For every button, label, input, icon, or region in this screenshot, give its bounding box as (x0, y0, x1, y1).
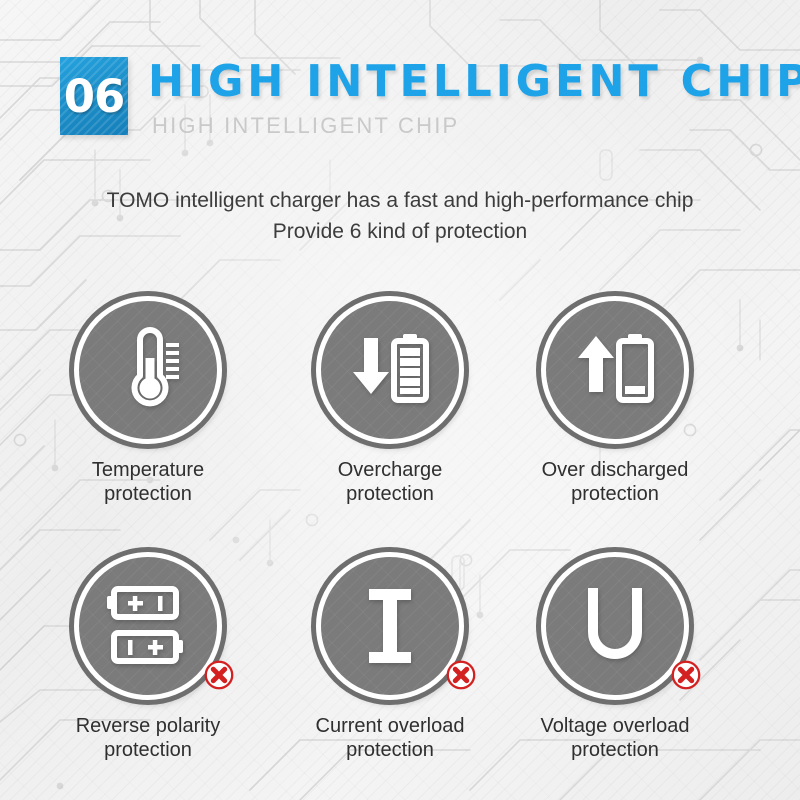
voltage-symbol-icon (574, 580, 656, 672)
infographic-page: 06 HIGH INTELLIGENT CHIP HIGH INTELLIGEN… (0, 0, 800, 800)
icon-circle (316, 296, 464, 444)
icon-circle-wrap (541, 296, 689, 444)
feature-label-line-1: Temperature (92, 459, 204, 481)
current-symbol-icon (350, 580, 430, 672)
icon-circle (316, 552, 464, 700)
feature-caption: Overcharge protection (268, 458, 512, 506)
protection-feature-grid: Temperature protection (0, 296, 800, 800)
thermometer-icon (102, 324, 194, 416)
icon-circle-wrap (541, 552, 689, 700)
icon-circle (74, 552, 222, 700)
feature-caption: Temperature protection (26, 458, 270, 506)
feature-label-line-1: Reverse polarity (76, 715, 221, 737)
icon-circle-wrap (74, 552, 222, 700)
warning-x-badge-icon (204, 660, 234, 690)
feature-voltage-overload-protection[interactable]: Voltage overload protection (493, 552, 737, 762)
intro-line-2: Provide 6 kind of protection (0, 216, 800, 247)
step-number-label: 06 (64, 74, 125, 119)
feature-row-top: Temperature protection (0, 296, 800, 552)
battery-up-arrow-icon (567, 324, 663, 416)
icon-circle-wrap (74, 296, 222, 444)
feature-caption: Voltage overload protection (493, 714, 737, 762)
step-number-badge: 06 (60, 57, 128, 135)
reversed-batteries-icon (98, 580, 198, 672)
feature-current-overload-protection[interactable]: Current overload protection (268, 552, 512, 762)
feature-over-discharged-protection[interactable]: Over discharged protection (493, 296, 737, 506)
feature-temperature-protection[interactable]: Temperature protection (26, 296, 270, 506)
icon-circle (74, 296, 222, 444)
feature-label-line-2: protection (493, 738, 737, 762)
feature-label-line-1: Voltage overload (540, 715, 689, 737)
feature-overcharge-protection[interactable]: Overcharge protection (268, 296, 512, 506)
feature-row-bottom: Reverse polarity protection (0, 552, 800, 800)
feature-caption: Over discharged protection (493, 458, 737, 506)
page-subtitle: HIGH INTELLIGENT CHIP (152, 113, 459, 139)
feature-label-line-2: protection (26, 738, 270, 762)
icon-circle-wrap (316, 296, 464, 444)
intro-line-1: TOMO intelligent charger has a fast and … (0, 185, 800, 216)
feature-caption: Reverse polarity protection (26, 714, 270, 762)
feature-reverse-polarity-protection[interactable]: Reverse polarity protection (26, 552, 270, 762)
icon-circle (541, 296, 689, 444)
feature-label-line-1: Over discharged (542, 459, 689, 481)
warning-x-badge-icon (671, 660, 701, 690)
header: 06 HIGH INTELLIGENT CHIP HIGH INTELLIGEN… (0, 0, 800, 160)
feature-label-line-2: protection (493, 482, 737, 506)
feature-label-line-1: Overcharge (338, 459, 443, 481)
icon-circle (541, 552, 689, 700)
intro-text: TOMO intelligent charger has a fast and … (0, 185, 800, 247)
page-title: HIGH INTELLIGENT CHIP (148, 56, 800, 108)
icon-circle-wrap (316, 552, 464, 700)
battery-down-arrow-icon (342, 324, 438, 416)
feature-label-line-2: protection (268, 738, 512, 762)
warning-x-badge-icon (446, 660, 476, 690)
feature-label-line-2: protection (26, 482, 270, 506)
feature-label-line-1: Current overload (316, 715, 465, 737)
feature-label-line-2: protection (268, 482, 512, 506)
feature-caption: Current overload protection (268, 714, 512, 762)
